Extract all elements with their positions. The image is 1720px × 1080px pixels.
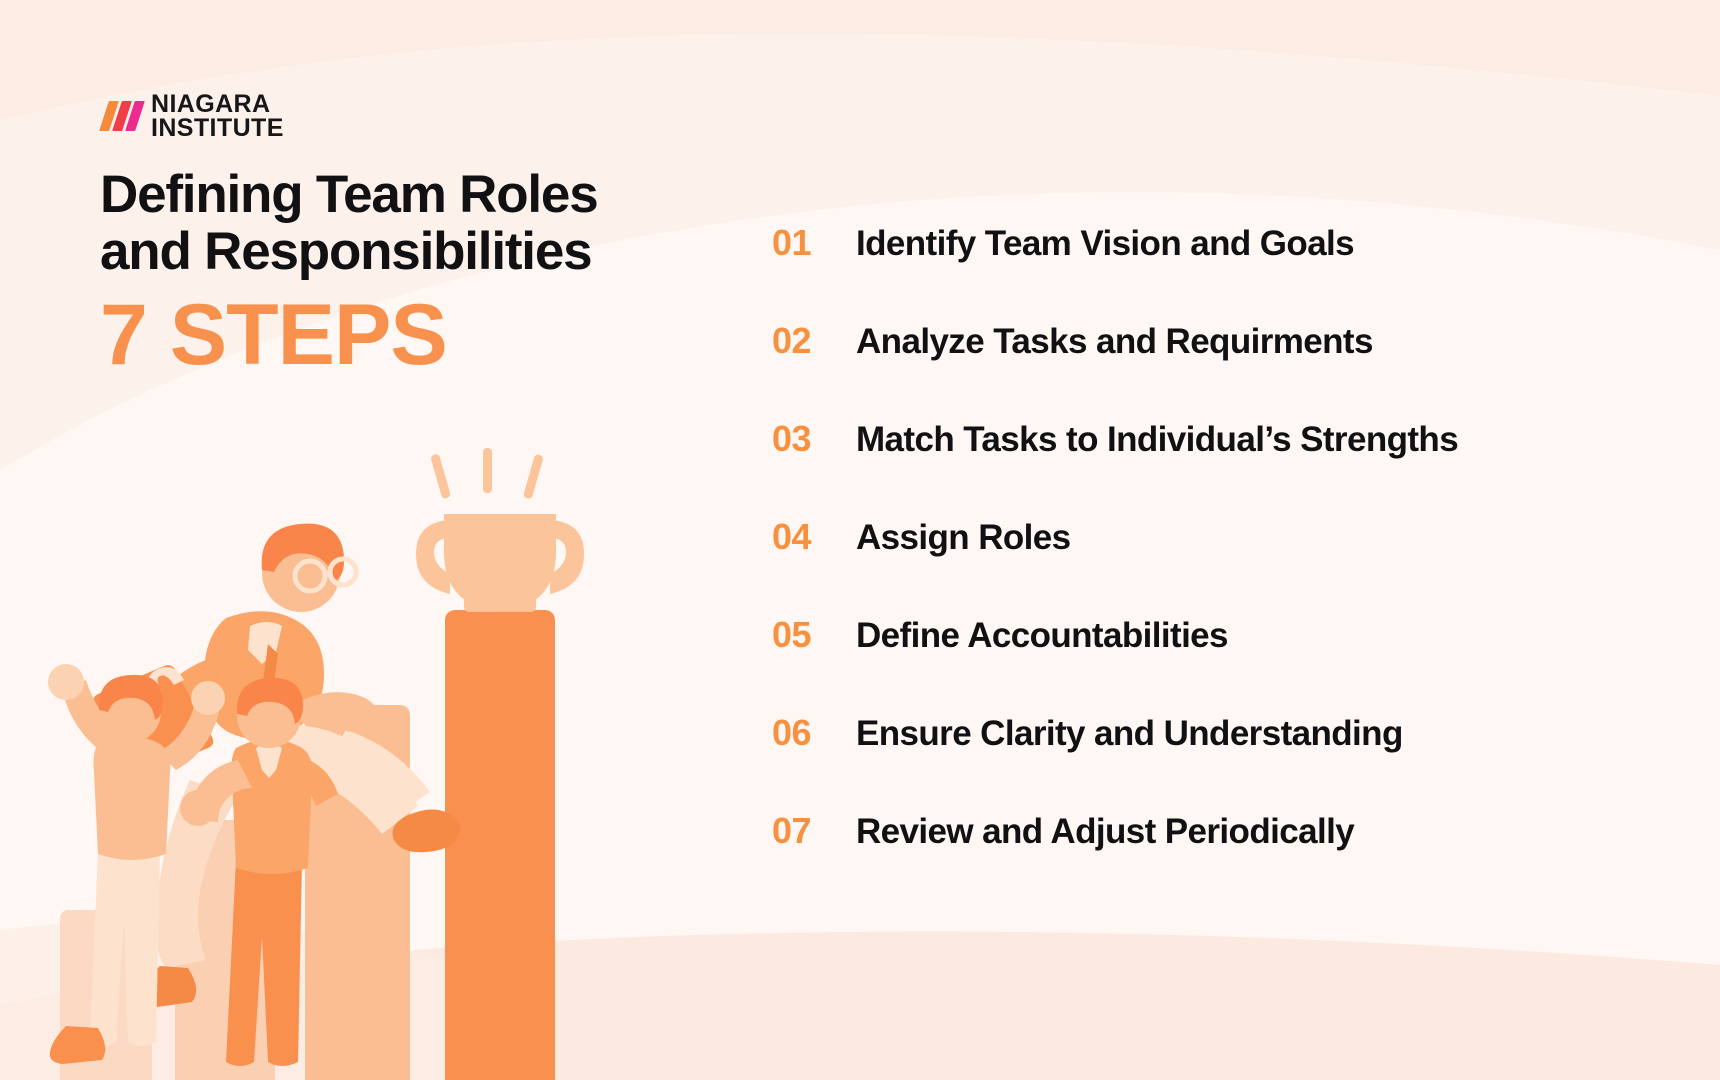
step-label: Analyze Tasks and Requirments bbox=[856, 322, 1373, 362]
title-line-2: and Responsibilities bbox=[100, 223, 740, 280]
step-label: Identify Team Vision and Goals bbox=[856, 224, 1354, 264]
step-label: Assign Roles bbox=[856, 518, 1071, 558]
title-line-1: Defining Team Roles bbox=[100, 166, 740, 223]
step-item: 03 Match Tasks to Individual’s Strengths bbox=[772, 418, 1632, 516]
trophy-icon bbox=[416, 514, 584, 612]
step-label: Match Tasks to Individual’s Strengths bbox=[856, 420, 1458, 460]
logo-line-2: INSTITUTE bbox=[151, 116, 284, 140]
step-number: 01 bbox=[772, 222, 856, 264]
step-number: 06 bbox=[772, 712, 856, 754]
page-title: Defining Team Roles and Responsibilities bbox=[100, 166, 740, 280]
title-emphasis: 7 STEPS bbox=[100, 292, 447, 378]
sparkle-icon bbox=[430, 448, 544, 499]
step-number: 04 bbox=[772, 516, 856, 558]
logo-line-1: NIAGARA bbox=[151, 92, 284, 116]
step-label: Ensure Clarity and Understanding bbox=[856, 714, 1403, 754]
step-item: 04 Assign Roles bbox=[772, 516, 1632, 614]
step-item: 05 Define Accountabilities bbox=[772, 614, 1632, 712]
step-number: 05 bbox=[772, 614, 856, 656]
step-number: 02 bbox=[772, 320, 856, 362]
teamwork-illustration bbox=[40, 430, 760, 1080]
step-item: 02 Analyze Tasks and Requirments bbox=[772, 320, 1632, 418]
step-item: 01 Identify Team Vision and Goals bbox=[772, 222, 1632, 320]
infographic-canvas: NIAGARA INSTITUTE Defining Team Roles an… bbox=[0, 0, 1720, 1080]
step-item: 06 Ensure Clarity and Understanding bbox=[772, 712, 1632, 810]
step-item: 07 Review and Adjust Periodically bbox=[772, 810, 1632, 908]
brand-logo: NIAGARA INSTITUTE bbox=[104, 92, 284, 141]
logo-mark-icon bbox=[104, 101, 140, 131]
step-label: Review and Adjust Periodically bbox=[856, 812, 1354, 852]
step-label: Define Accountabilities bbox=[856, 616, 1228, 656]
step-number: 07 bbox=[772, 810, 856, 852]
bar-4 bbox=[445, 610, 555, 1080]
logo-wordmark: NIAGARA INSTITUTE bbox=[151, 92, 284, 141]
step-number: 03 bbox=[772, 418, 856, 460]
steps-list: 01 Identify Team Vision and Goals 02 Ana… bbox=[772, 222, 1632, 908]
